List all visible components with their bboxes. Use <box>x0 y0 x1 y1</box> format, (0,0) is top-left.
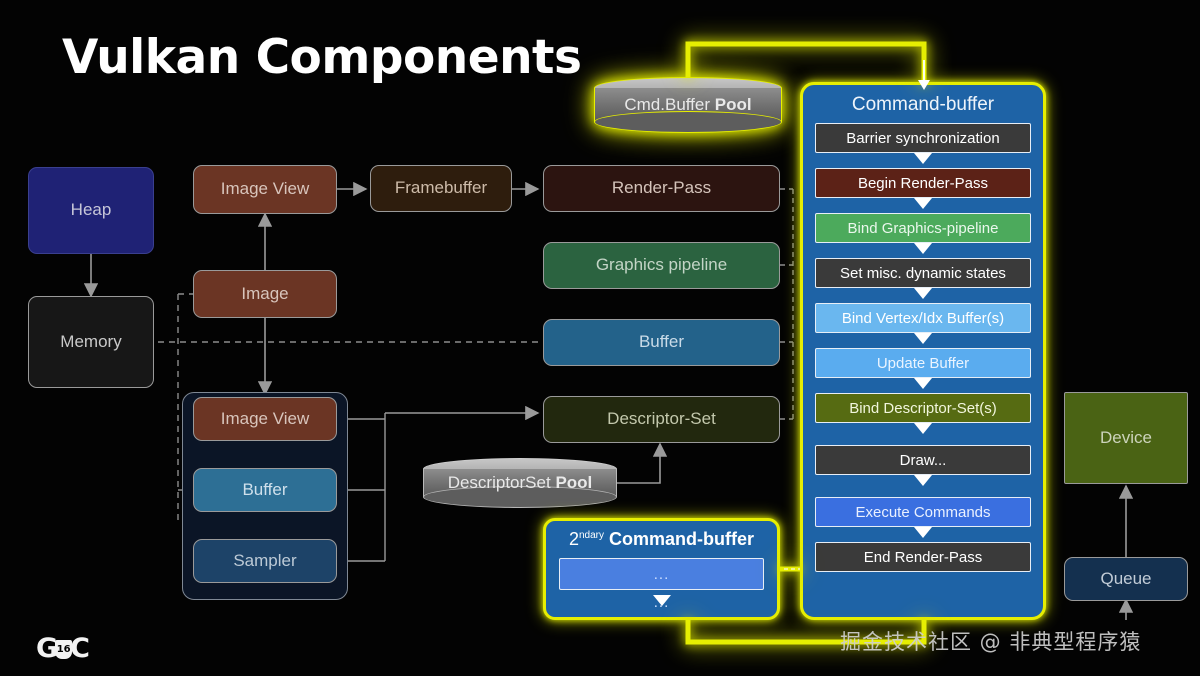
command-buffer-step-label: Bind Descriptor-Set(s) <box>849 400 997 417</box>
chevron-down-icon <box>914 378 932 389</box>
chevron-down-icon <box>914 288 932 299</box>
node-queue-label: Queue <box>1100 570 1151 589</box>
node-graphics-pipeline-label: Graphics pipeline <box>596 256 727 275</box>
secondary-command-buffer-title: 2ndary Command-buffer <box>546 529 777 550</box>
command-buffer-step-label: Begin Render-Pass <box>858 175 988 192</box>
command-buffer-step[interactable]: Begin Render-Pass <box>815 168 1031 198</box>
node-memory-label: Memory <box>60 333 121 352</box>
command-buffer-step[interactable]: Bind Graphics-pipeline <box>815 213 1031 243</box>
node-group-image-view-label: Image View <box>221 410 310 429</box>
chevron-down-icon <box>914 527 932 538</box>
step-connector <box>803 198 1043 213</box>
command-buffer-step-label: Bind Graphics-pipeline <box>848 220 999 237</box>
command-buffer-panel[interactable]: Command-buffer Barrier synchronizationBe… <box>800 82 1046 620</box>
node-image-view-top[interactable]: Image View <box>193 165 337 214</box>
gdc-logo-left: G <box>36 633 57 664</box>
descriptor-set-pool[interactable]: DescriptorSet Pool <box>423 458 617 508</box>
descriptor-set-pool-label-plain: DescriptorSet <box>448 473 551 493</box>
secondary-command-buffer-panel[interactable]: 2ndary Command-buffer ... ... <box>543 518 780 620</box>
command-buffer-step[interactable]: Bind Vertex/Idx Buffer(s) <box>815 303 1031 333</box>
chevron-down-icon <box>914 243 932 254</box>
node-image-label: Image <box>241 285 288 304</box>
cmd-buffer-pool[interactable]: Cmd.Buffer Pool <box>594 77 782 133</box>
step-connector <box>803 333 1043 348</box>
node-device[interactable]: Device <box>1064 392 1188 484</box>
secondary-prefix: 2 <box>569 529 579 549</box>
node-group-image-view[interactable]: Image View <box>193 397 337 441</box>
step-connector <box>803 423 1043 445</box>
node-queue[interactable]: Queue <box>1064 557 1188 601</box>
node-graphics-pipeline[interactable]: Graphics pipeline <box>543 242 780 289</box>
gdc-logo-badge: 16 <box>55 640 72 659</box>
step-connector <box>803 243 1043 258</box>
secondary-inner-step[interactable]: ... <box>559 558 764 590</box>
command-buffer-step[interactable]: Update Buffer <box>815 348 1031 378</box>
node-group-buffer[interactable]: Buffer <box>193 468 337 512</box>
command-buffer-step[interactable]: Set misc. dynamic states <box>815 258 1031 288</box>
step-connector <box>803 288 1043 303</box>
command-buffer-step-label: Set misc. dynamic states <box>840 265 1006 282</box>
step-connector <box>803 475 1043 497</box>
node-render-pass-label: Render-Pass <box>612 179 711 198</box>
watermark-text: 掘金技术社区 @ 非典型程序猿 <box>840 626 1141 656</box>
secondary-superscript: ndary <box>579 530 604 541</box>
command-buffer-step[interactable]: End Render-Pass <box>815 542 1031 572</box>
descriptor-set-pool-label-bold: Pool <box>555 473 592 493</box>
command-buffer-step-label: Execute Commands <box>855 504 990 521</box>
gdc-logo: G 16 C <box>36 633 89 664</box>
node-memory[interactable]: Memory <box>28 296 154 388</box>
chevron-down-icon <box>914 423 932 434</box>
command-buffer-step-label: End Render-Pass <box>864 549 982 566</box>
node-group-sampler-label: Sampler <box>233 552 296 571</box>
chevron-down-icon <box>914 198 932 209</box>
cmd-buffer-pool-label-bold: Pool <box>715 95 752 115</box>
node-image-view-top-label: Image View <box>221 180 310 199</box>
command-buffer-step[interactable]: Draw... <box>815 445 1031 475</box>
command-buffer-title: Command-buffer <box>803 94 1043 116</box>
step-connector <box>803 153 1043 168</box>
slide-canvas: Vulkan Components Heap Memory Image View… <box>0 0 1200 676</box>
node-descriptor-set[interactable]: Descriptor-Set <box>543 396 780 443</box>
command-buffer-step[interactable]: Barrier synchronization <box>815 123 1031 153</box>
edge-dspool-descriptorset <box>617 444 660 483</box>
chevron-down-icon <box>914 333 932 344</box>
node-heap-label: Heap <box>71 201 112 220</box>
chevron-down-icon <box>914 153 932 164</box>
gdc-logo-right: C <box>70 633 89 664</box>
command-buffer-step-label: Draw... <box>900 452 947 469</box>
secondary-trailing-label: ... <box>654 594 670 611</box>
node-render-pass[interactable]: Render-Pass <box>543 165 780 212</box>
command-buffer-step-label: Bind Vertex/Idx Buffer(s) <box>842 310 1004 327</box>
secondary-inner-label: ... <box>654 566 670 583</box>
node-framebuffer-label: Framebuffer <box>395 179 487 198</box>
step-connector <box>803 527 1043 542</box>
node-descriptor-set-label: Descriptor-Set <box>607 410 716 429</box>
secondary-title-text: Command-buffer <box>609 529 754 549</box>
command-buffer-steps: Barrier synchronizationBegin Render-Pass… <box>803 123 1043 572</box>
node-group-sampler[interactable]: Sampler <box>193 539 337 583</box>
node-image[interactable]: Image <box>193 270 337 318</box>
node-device-label: Device <box>1100 429 1152 448</box>
node-heap[interactable]: Heap <box>28 167 154 254</box>
command-buffer-step[interactable]: Execute Commands <box>815 497 1031 527</box>
command-buffer-step-label: Barrier synchronization <box>846 130 999 147</box>
node-buffer[interactable]: Buffer <box>543 319 780 366</box>
node-buffer-label: Buffer <box>639 333 684 352</box>
command-buffer-step-label: Update Buffer <box>877 355 969 372</box>
cmd-buffer-pool-label-plain: Cmd.Buffer <box>624 95 710 115</box>
step-connector <box>803 378 1043 393</box>
chevron-down-icon <box>914 475 932 486</box>
cmd-buffer-pool-label: Cmd.Buffer Pool <box>594 77 782 133</box>
node-framebuffer[interactable]: Framebuffer <box>370 165 512 212</box>
descriptor-set-pool-label: DescriptorSet Pool <box>423 458 617 508</box>
command-buffer-step[interactable]: Bind Descriptor-Set(s) <box>815 393 1031 423</box>
node-group-buffer-label: Buffer <box>242 481 287 500</box>
